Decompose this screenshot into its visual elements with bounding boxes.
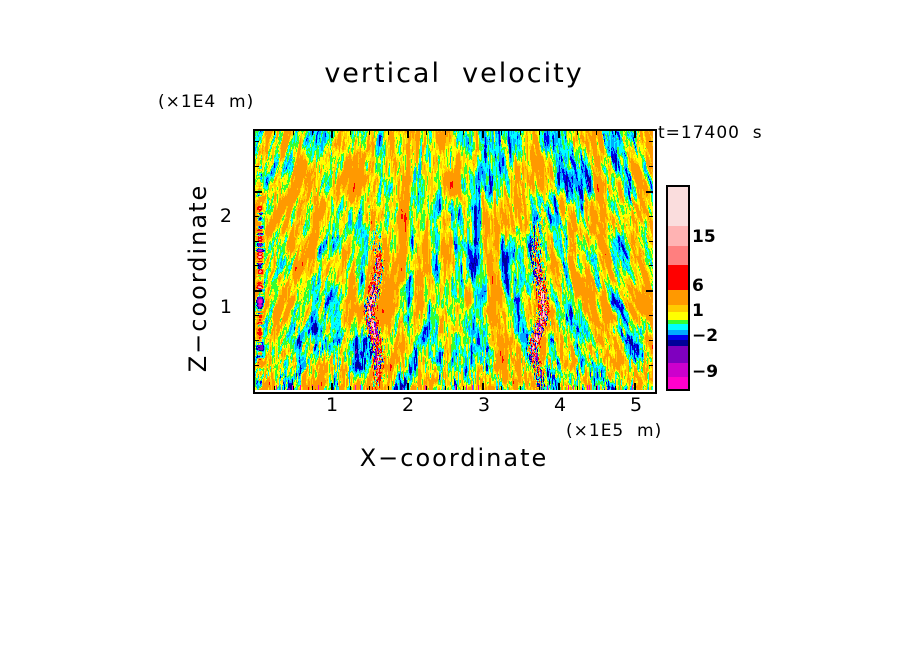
x-tick-major (558, 131, 560, 138)
y-tick-minor (649, 216, 653, 217)
x-tick-minor (312, 386, 313, 390)
x-axis-title: X−coordinate (0, 444, 904, 472)
x-tick-minor (426, 386, 427, 390)
y-tick-label: 1 (212, 296, 232, 318)
colorbar-tick-label: −2 (692, 326, 718, 346)
x-tick-label: 3 (474, 394, 494, 416)
x-tick-minor (501, 386, 502, 390)
x-tick-major (331, 131, 333, 138)
y-tick-minor (255, 365, 259, 366)
y-tick-major (255, 290, 262, 292)
x-tick-major (407, 383, 409, 390)
x-tick-minor (312, 131, 313, 135)
y-tick-minor (649, 315, 653, 316)
x-tick-minor (426, 131, 427, 135)
time-annotation: t=17400 s (658, 123, 763, 143)
x-tick-minor (293, 386, 294, 390)
x-tick-minor (463, 386, 464, 390)
x-tick-minor (596, 131, 597, 135)
x-tick-minor (369, 386, 370, 390)
x-axis-title-text: X−coordinate (360, 444, 549, 472)
y-tick-minor (255, 265, 259, 266)
x-tick-minor (388, 386, 389, 390)
x-tick-minor (596, 386, 597, 390)
x-tick-minor (274, 131, 275, 135)
colorbar-tick-label: 15 (692, 227, 716, 247)
x-tick-label: 1 (322, 394, 342, 416)
x-tick-label: 5 (626, 394, 646, 416)
y-tick-minor (255, 315, 259, 316)
y-tick-minor (649, 141, 653, 142)
x-tick-minor (615, 131, 616, 135)
y-tick-minor (255, 166, 259, 167)
x-tick-minor (520, 386, 521, 390)
x-axis-unit-label: (×1E5 m) (566, 421, 662, 441)
x-tick-minor (350, 386, 351, 390)
y-tick-minor (255, 241, 259, 242)
figure-canvas-root: vertical velocity (×1E4 m) t=17400 s 123… (0, 0, 904, 654)
y-tick-minor (649, 241, 653, 242)
x-tick-minor (445, 131, 446, 135)
x-tick-major (634, 131, 636, 138)
x-tick-minor (463, 131, 464, 135)
colorbar-tick-label: 1 (692, 301, 704, 321)
y-tick-minor (255, 216, 259, 217)
x-tick-minor (369, 131, 370, 135)
x-tick-major (331, 383, 333, 390)
colorbar (668, 187, 688, 389)
x-tick-minor (539, 131, 540, 135)
x-tick-minor (539, 386, 540, 390)
colorbar-tick-label: −9 (692, 362, 718, 382)
y-tick-minor (255, 340, 259, 341)
colorbar-tick-label: 6 (692, 276, 704, 296)
y-tick-minor (649, 365, 653, 366)
x-tick-minor (577, 386, 578, 390)
x-tick-minor (615, 386, 616, 390)
x-tick-minor (350, 131, 351, 135)
vertical-velocity-heatmap (255, 131, 653, 390)
x-tick-label: 4 (550, 394, 570, 416)
y-tick-minor (649, 166, 653, 167)
y-tick-label: 2 (212, 205, 232, 227)
x-tick-major (634, 383, 636, 390)
y-tick-major (255, 191, 262, 193)
y-tick-major (646, 290, 653, 292)
x-tick-minor (577, 131, 578, 135)
x-tick-minor (520, 131, 521, 135)
x-tick-minor (501, 131, 502, 135)
y-tick-minor (649, 265, 653, 266)
y-tick-minor (255, 141, 259, 142)
y-tick-minor (649, 340, 653, 341)
x-tick-minor (293, 131, 294, 135)
x-tick-major (558, 383, 560, 390)
y-axis-title: Z−coordinate (184, 168, 212, 388)
x-tick-major (407, 131, 409, 138)
x-tick-minor (388, 131, 389, 135)
y-axis-unit-label: (×1E4 m) (158, 92, 254, 112)
x-tick-major (482, 383, 484, 390)
page-title: vertical velocity (0, 58, 904, 89)
y-tick-major (646, 191, 653, 193)
x-tick-major (482, 131, 484, 138)
x-tick-minor (274, 386, 275, 390)
x-tick-label: 2 (398, 394, 418, 416)
x-tick-minor (445, 386, 446, 390)
